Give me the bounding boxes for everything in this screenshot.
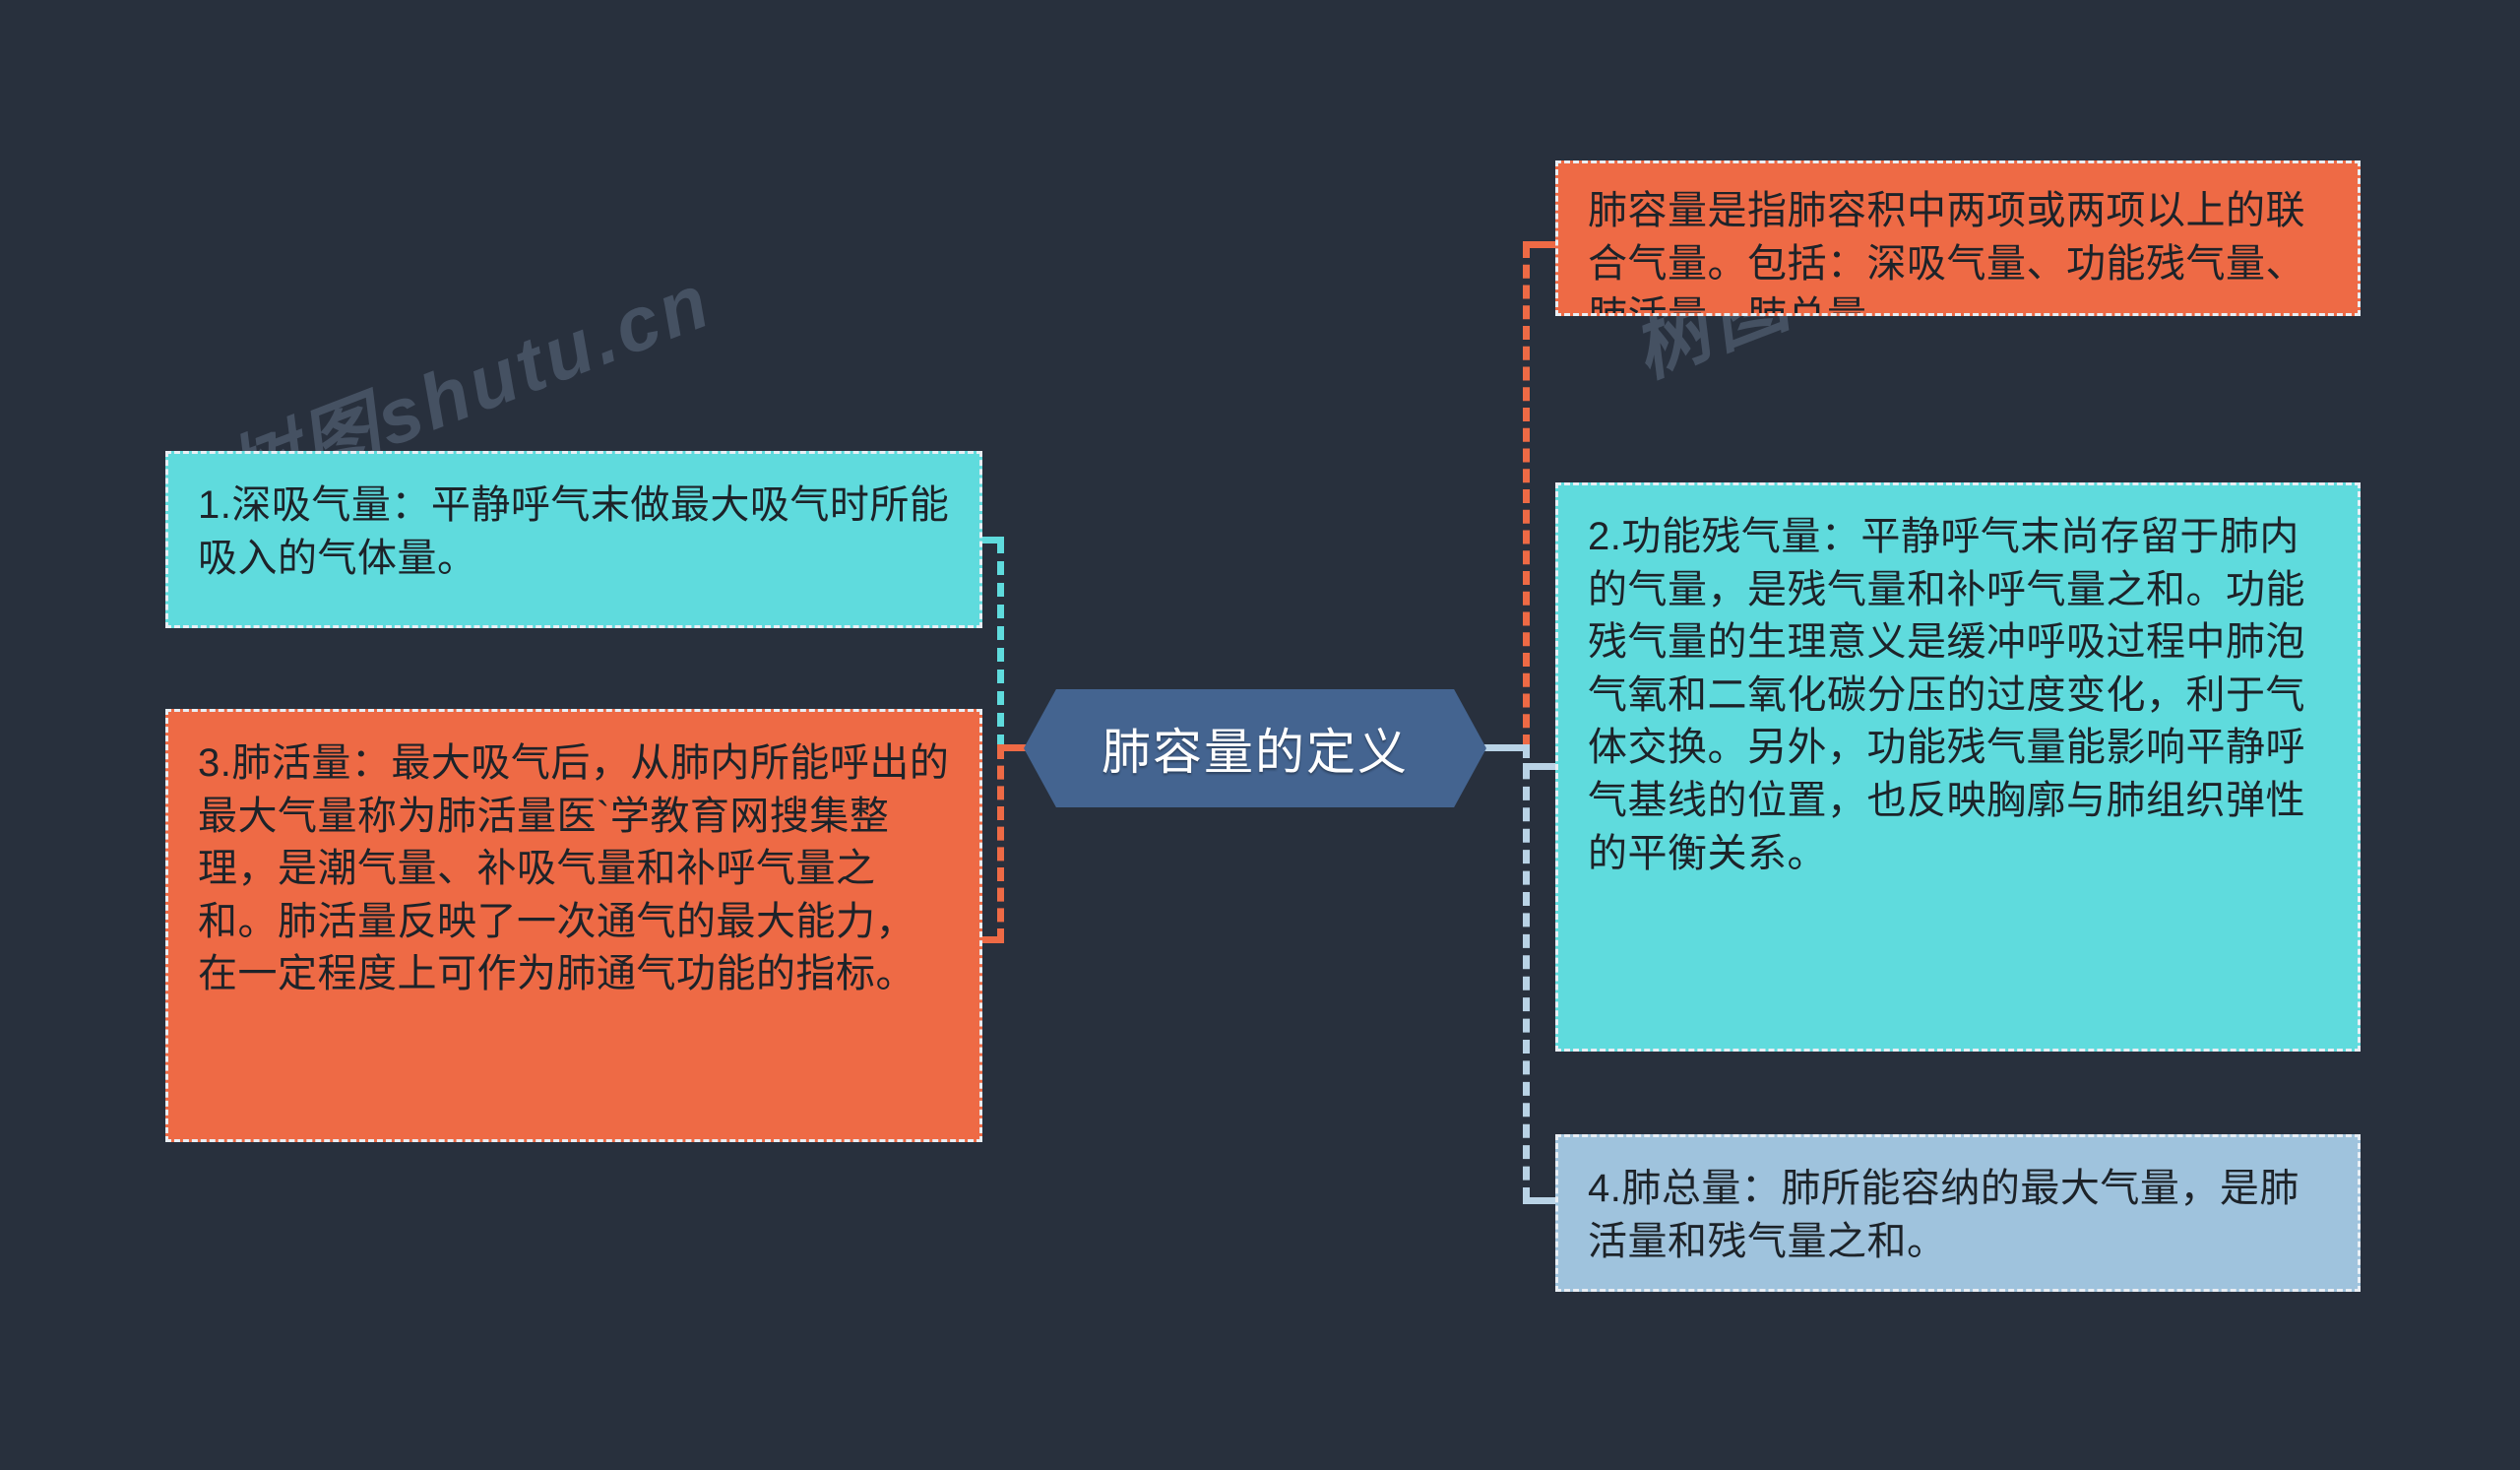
connector-central-to-deep-inspiratory-vertical: [997, 540, 1004, 748]
connector-central-right-vertical: [1523, 744, 1530, 1201]
node-functional-residual-capacity[interactable]: 2.功能残气量：平静呼气末尚存留于肺内的气量，是残气量和补呼气量之和。功能残气量…: [1555, 482, 2361, 1052]
connector-central-right-stub: [1480, 744, 1526, 751]
connector-central-to-definition-vertical: [1523, 244, 1530, 748]
connector-central-to-vital-capacity-vertical: [997, 745, 1004, 942]
mindmap-canvas: 树图shutu.cn 树图shutu.cn 肺容量是指肺容积中两项或两项以上的联…: [0, 0, 2520, 1470]
connector-central-to-vital-capacity-horizontal: [982, 936, 1004, 943]
connector-central-to-deep-inspiratory-horizontal: [982, 537, 1004, 543]
connector-central-to-total-capacity-horizontal: [1523, 1197, 1558, 1204]
node-deep-inspiratory-capacity[interactable]: 1.深吸气量：平静呼气末做最大吸气时所能吸入的气体量。: [165, 451, 982, 628]
node-vital-capacity[interactable]: 3.肺活量：最大吸气后，从肺内所能呼出的最大气量称为肺活量医`学教育网搜集整理，…: [165, 709, 982, 1142]
node-total-lung-capacity[interactable]: 4.肺总量：肺所能容纳的最大气量，是肺活量和残气量之和。: [1555, 1134, 2361, 1292]
central-node-lung-capacity-definition[interactable]: 肺容量的定义: [1024, 689, 1486, 807]
connector-central-to-definition-horizontal: [1523, 241, 1558, 248]
connector-central-to-functional-residual-horizontal: [1523, 763, 1558, 770]
node-definition[interactable]: 肺容量是指肺容积中两项或两项以上的联合气量。包括：深吸气量、功能残气量、肺活量、…: [1555, 160, 2361, 316]
